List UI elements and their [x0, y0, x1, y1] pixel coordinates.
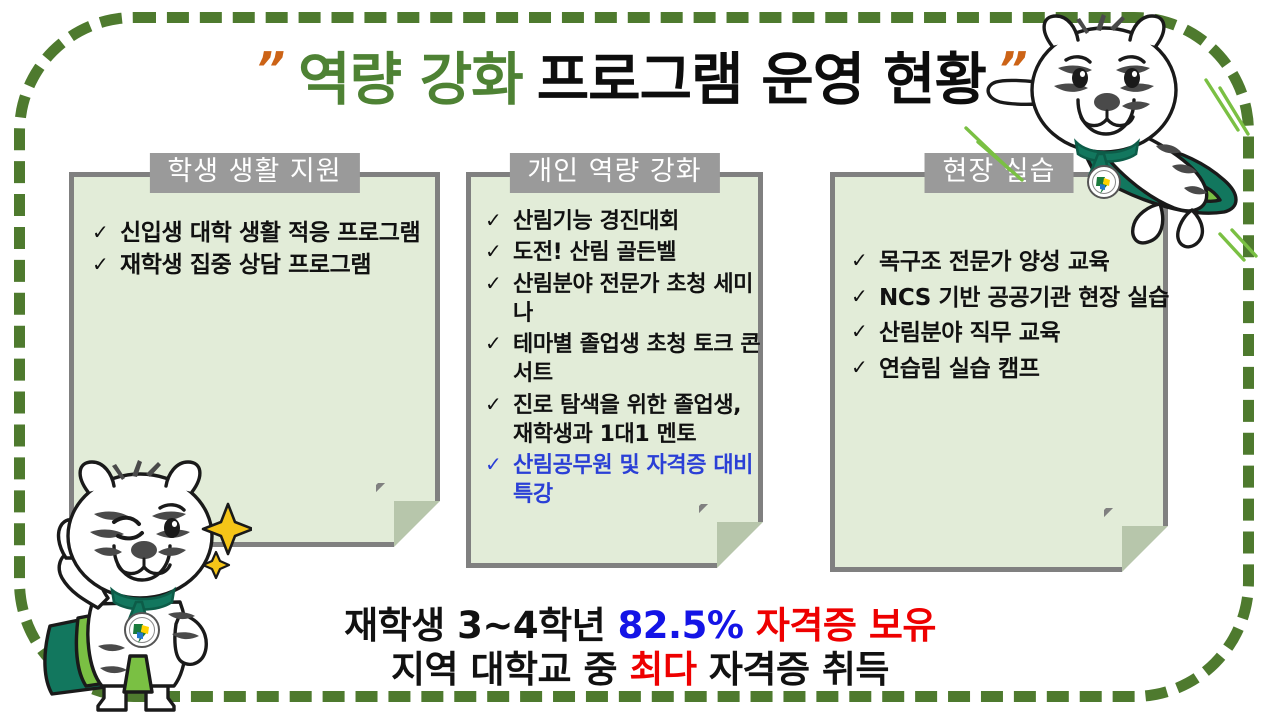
list-item: ✓ 도전! 산림 골든벨 [483, 238, 765, 267]
list-item-label: 산림공무원 및 자격증 대비 특강 [513, 453, 753, 507]
quote-open-icon: ” [255, 42, 282, 96]
list-item-label: 산림분야 직무 교육 [879, 320, 1060, 346]
tiger-mascot-pointing [22, 418, 252, 718]
list-item-label: 신입생 대학 생활 적응 프로그램 [120, 220, 420, 246]
list-item: ✓ 테마별 졸업생 초청 토크 콘서트 [483, 330, 765, 389]
list-item-label: 진로 탐색을 위한 졸업생, 재학생과 1대1 멘토 [513, 393, 741, 447]
list-item: ✓ 진로 탐색을 위한 졸업생, 재학생과 1대1 멘토 [483, 391, 765, 450]
summary-emphasis: 최다 [629, 648, 696, 691]
list-item: ✓ NCS 기반 공공기관 현장 실습 [849, 283, 1169, 315]
summary-line1-suffix: 자격증 보유 [743, 604, 935, 647]
check-icon: ✓ [851, 354, 867, 382]
list-item: ✓ 연습림 실습 캠프 [849, 354, 1169, 386]
summary-line1-prefix: 재학생 3~4학년 [344, 604, 617, 647]
check-icon: ✓ [485, 207, 501, 234]
list-item: ✓ 산림분야 전문가 초청 세미나 [483, 270, 765, 329]
list-item: ✓ 산림기능 경진대회 [483, 207, 765, 236]
card-2-header: 개인 역량 강화 [509, 153, 719, 193]
summary-line2-prefix: 지역 대학교 중 [391, 648, 629, 691]
page-fold-corner [1122, 526, 1168, 572]
page-fold-corner [394, 501, 440, 547]
card-individual-capability: 개인 역량 강화 ✓ 산림기능 경진대회 ✓ 도전! 산림 골든벨 ✓ 산림분야… [466, 172, 763, 568]
card-3-list: ✓ 목구조 전문가 양성 교육 ✓ NCS 기반 공공기관 현장 실습 ✓ 산림… [849, 247, 1169, 390]
list-item-label: 재학생 집중 상담 프로그램 [120, 252, 371, 278]
title-black-text: 프로그램 운영 현황 [537, 47, 986, 113]
summary-line2-suffix: 자격증 취득 [697, 648, 889, 691]
check-icon: ✓ [851, 283, 867, 311]
list-item-label: 연습림 실습 캠프 [879, 356, 1040, 382]
card-2-list: ✓ 산림기능 경진대회 ✓ 도전! 산림 골든벨 ✓ 산림분야 전문가 초청 세… [483, 207, 765, 512]
list-item-highlighted: ✓ 산림공무원 및 자격증 대비 특강 [483, 451, 765, 510]
title-green-text: 역량 강화 [298, 47, 523, 113]
list-item: ✓ 신입생 대학 생활 적응 프로그램 [90, 219, 428, 249]
list-item-label: 도전! 산림 골든벨 [513, 240, 676, 265]
tiger-mascot-flying [948, 6, 1278, 266]
list-item-label: 산림기능 경진대회 [513, 209, 679, 234]
page-fold-corner [717, 522, 763, 568]
check-icon: ✓ [485, 270, 501, 297]
check-icon: ✓ [92, 251, 108, 277]
check-icon: ✓ [485, 451, 501, 478]
slide-canvas: ”역량 강화프로그램 운영 현황” 학생 생활 지원 ✓ 신입생 대학 생활 적… [0, 0, 1280, 720]
card-1-list: ✓ 신입생 대학 생활 적응 프로그램 ✓ 재학생 집중 상담 프로그램 [90, 219, 428, 283]
check-icon: ✓ [92, 219, 108, 245]
summary-percentage: 82.5% [618, 604, 744, 647]
list-item: ✓ 재학생 집중 상담 프로그램 [90, 251, 428, 281]
check-icon: ✓ [485, 330, 501, 357]
list-item-label: 산림분야 전문가 초청 세미나 [513, 272, 753, 326]
check-icon: ✓ [851, 247, 867, 275]
list-item-label: NCS 기반 공공기관 현장 실습 [879, 285, 1169, 311]
list-item-label: 테마별 졸업생 초청 토크 콘서트 [513, 332, 760, 386]
check-icon: ✓ [851, 318, 867, 346]
list-item: ✓ 산림분야 직무 교육 [849, 318, 1169, 350]
check-icon: ✓ [485, 238, 501, 265]
check-icon: ✓ [485, 391, 501, 418]
card-1-header: 학생 생활 지원 [149, 153, 359, 193]
